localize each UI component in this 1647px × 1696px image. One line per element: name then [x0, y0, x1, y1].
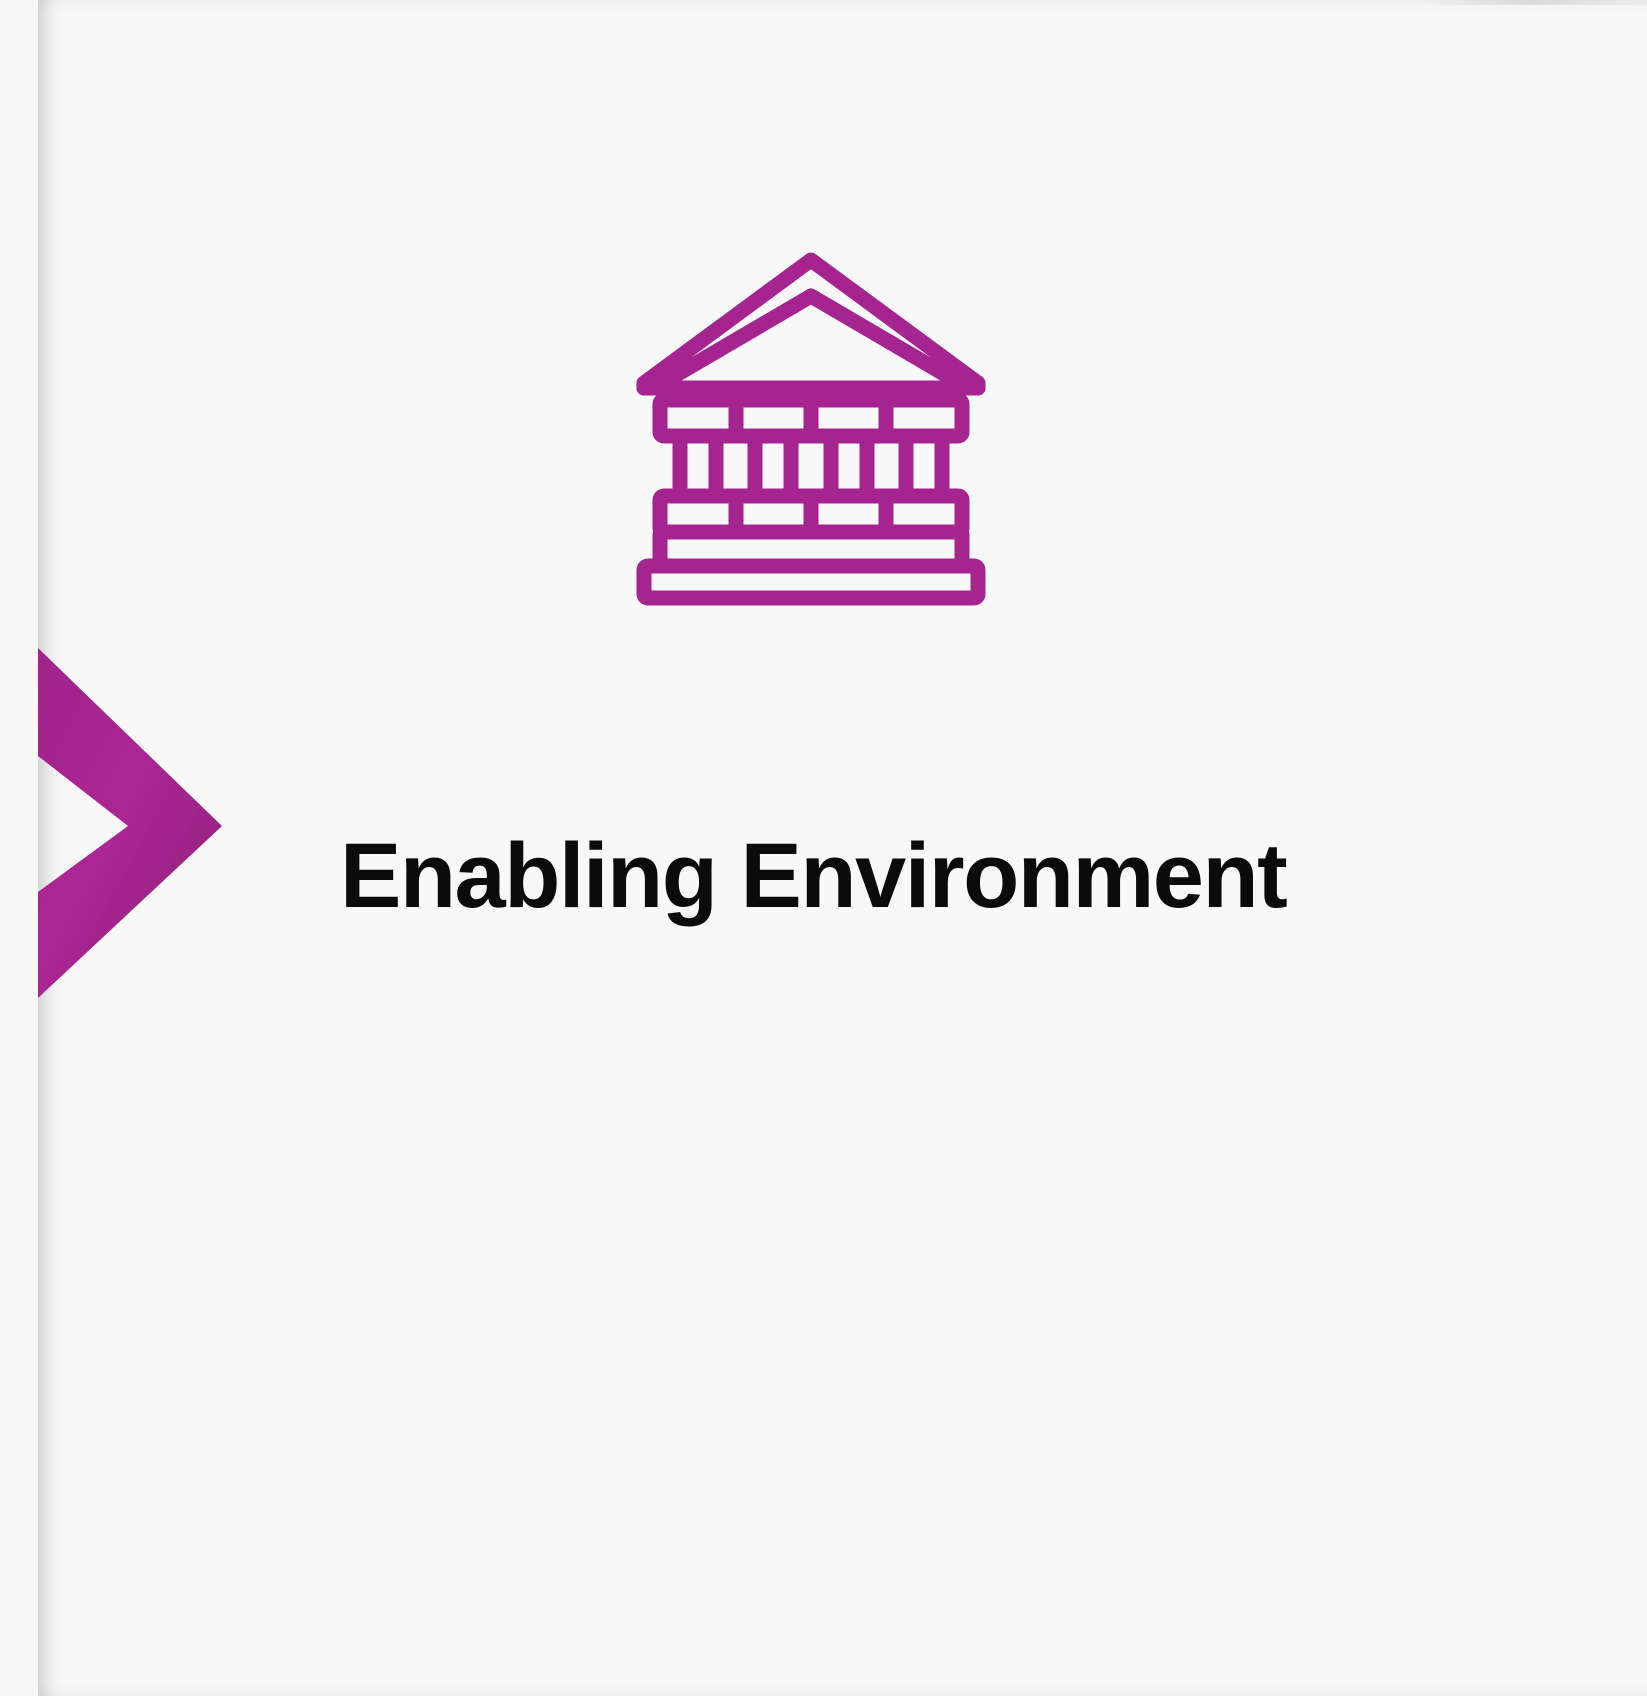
enabling-environment-card: Enabling Environment	[0, 0, 1647, 1696]
bank-building-icon	[632, 248, 990, 610]
chevron-right-marker	[0, 600, 240, 1040]
panel-top-edge-highlight	[1418, 0, 1647, 5]
page-title: Enabling Environment	[340, 828, 1440, 925]
